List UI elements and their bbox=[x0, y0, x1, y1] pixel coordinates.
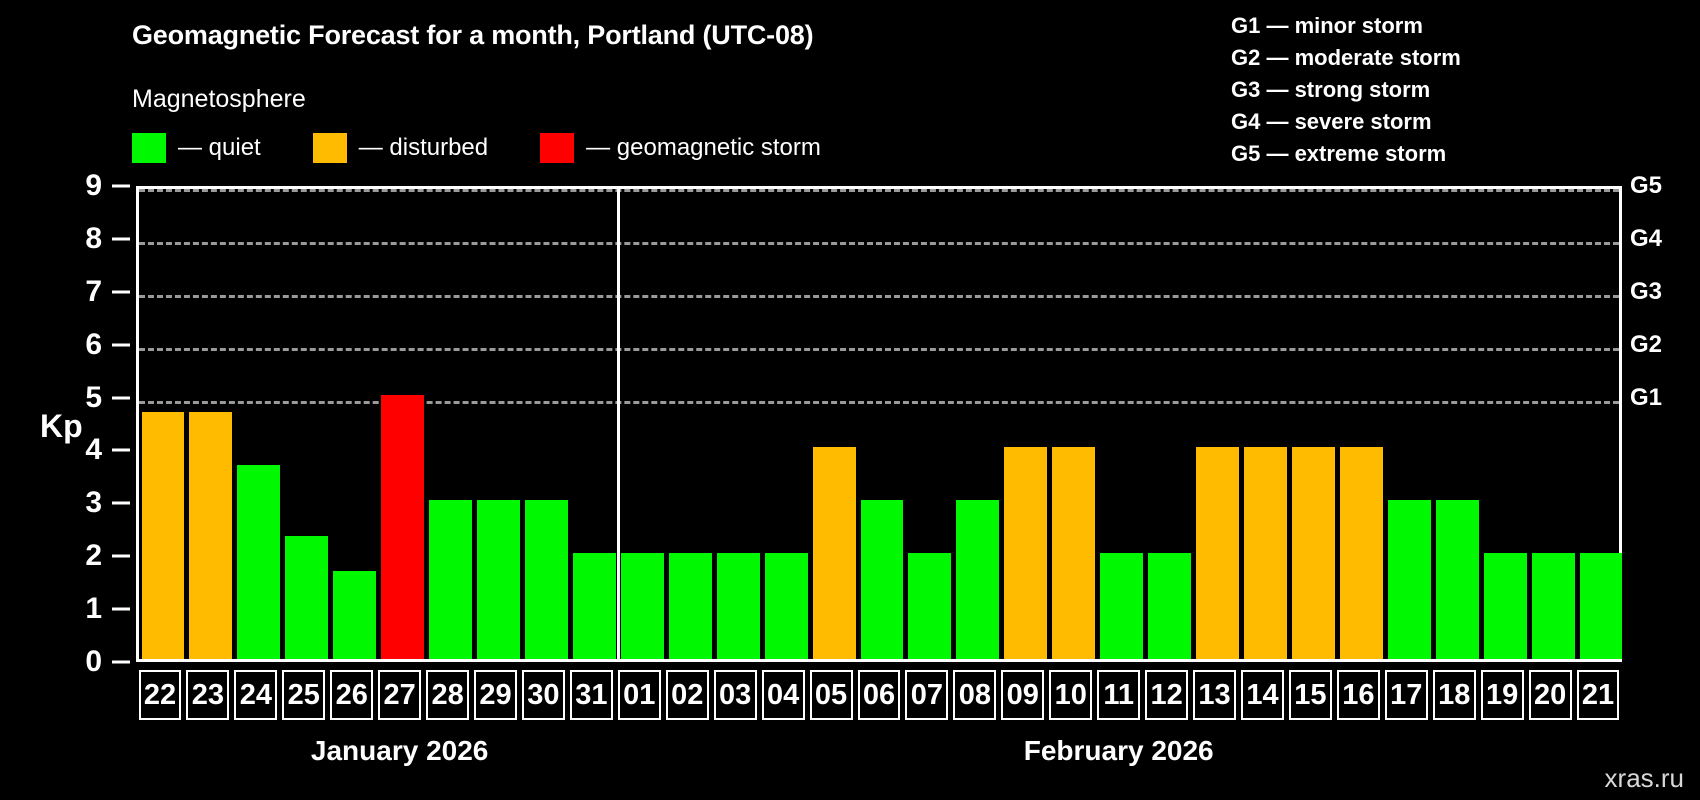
y-tick-label-4: 4 bbox=[85, 433, 102, 467]
y-tick-mark-9 bbox=[112, 185, 130, 188]
y-tick-mark-1 bbox=[112, 608, 130, 611]
date-cell-04[interactable]: 04 bbox=[762, 670, 805, 720]
page-title: Geomagnetic Forecast for a month, Portla… bbox=[132, 20, 813, 51]
bar-14[interactable] bbox=[1244, 447, 1287, 659]
g-scale-row-5: G5 — extreme storm bbox=[1231, 138, 1461, 170]
legend-label: — quiet bbox=[178, 134, 261, 162]
date-cell-12[interactable]: 12 bbox=[1145, 670, 1188, 720]
g-scale-row-4: G4 — severe storm bbox=[1231, 106, 1461, 138]
date-cell-16[interactable]: 16 bbox=[1337, 670, 1380, 720]
bar-series bbox=[139, 189, 1619, 659]
date-cell-28[interactable]: 28 bbox=[426, 670, 469, 720]
bar-17[interactable] bbox=[1388, 500, 1431, 659]
date-cell-14[interactable]: 14 bbox=[1241, 670, 1284, 720]
y-tick-label-3: 3 bbox=[85, 486, 102, 520]
date-cell-30[interactable]: 30 bbox=[522, 670, 565, 720]
legend-item-2: — geomagnetic storm bbox=[540, 133, 821, 163]
y-tick-mark-6 bbox=[112, 343, 130, 346]
bar-27[interactable] bbox=[381, 395, 424, 659]
bar-10[interactable] bbox=[1052, 447, 1095, 659]
bar-31[interactable] bbox=[573, 553, 616, 659]
bar-15[interactable] bbox=[1292, 447, 1335, 659]
y-tick-mark-5 bbox=[112, 396, 130, 399]
date-cell-23[interactable]: 23 bbox=[186, 670, 229, 720]
legend-item-1: — disturbed bbox=[313, 133, 488, 163]
legend-item-0: — quiet bbox=[132, 133, 261, 163]
y-tick-label-7: 7 bbox=[85, 275, 102, 309]
bar-16[interactable] bbox=[1340, 447, 1383, 659]
bar-21[interactable] bbox=[1580, 553, 1623, 659]
y-tick-label-2: 2 bbox=[85, 539, 102, 573]
bar-22[interactable] bbox=[142, 412, 185, 659]
bar-28[interactable] bbox=[429, 500, 472, 659]
bar-29[interactable] bbox=[477, 500, 520, 659]
date-cell-26[interactable]: 26 bbox=[330, 670, 373, 720]
bar-04[interactable] bbox=[765, 553, 808, 659]
bar-09[interactable] bbox=[1004, 447, 1047, 659]
g-axis-label-G3: G3 bbox=[1630, 278, 1662, 306]
bar-06[interactable] bbox=[861, 500, 904, 659]
y-tick-label-6: 6 bbox=[85, 328, 102, 362]
bar-23[interactable] bbox=[189, 412, 232, 659]
y-tick-label-1: 1 bbox=[85, 592, 102, 626]
bar-05[interactable] bbox=[813, 447, 856, 659]
date-cell-17[interactable]: 17 bbox=[1385, 670, 1428, 720]
date-cell-09[interactable]: 09 bbox=[1001, 670, 1044, 720]
bar-25[interactable] bbox=[285, 536, 328, 659]
date-cell-15[interactable]: 15 bbox=[1289, 670, 1332, 720]
bar-24[interactable] bbox=[237, 465, 280, 659]
y-tick-mark-2 bbox=[112, 555, 130, 558]
y-tick-label-9: 9 bbox=[85, 169, 102, 203]
y-tick-mark-4 bbox=[112, 449, 130, 452]
bar-07[interactable] bbox=[908, 553, 951, 659]
geomagnetic-forecast-chart: Geomagnetic Forecast for a month, Portla… bbox=[0, 0, 1700, 800]
month-caption-1: February 2026 bbox=[1024, 735, 1214, 767]
right-g-axis: G1G2G3G4G5 bbox=[1630, 186, 1700, 662]
plot-area bbox=[136, 186, 1622, 662]
y-tick-mark-3 bbox=[112, 502, 130, 505]
date-cell-10[interactable]: 10 bbox=[1049, 670, 1092, 720]
date-cell-13[interactable]: 13 bbox=[1193, 670, 1236, 720]
date-cell-11[interactable]: 11 bbox=[1097, 670, 1140, 720]
y-tick-label-5: 5 bbox=[85, 381, 102, 415]
y-tick-label-8: 8 bbox=[85, 222, 102, 256]
y-tick-mark-7 bbox=[112, 290, 130, 293]
bar-26[interactable] bbox=[333, 571, 376, 659]
date-cell-08[interactable]: 08 bbox=[953, 670, 996, 720]
watermark: xras.ru bbox=[1605, 763, 1684, 794]
date-cell-25[interactable]: 25 bbox=[282, 670, 325, 720]
legend-swatch-icon bbox=[313, 133, 347, 163]
bar-03[interactable] bbox=[717, 553, 760, 659]
bar-12[interactable] bbox=[1148, 553, 1191, 659]
bar-30[interactable] bbox=[525, 500, 568, 659]
bar-11[interactable] bbox=[1100, 553, 1143, 659]
date-cell-27[interactable]: 27 bbox=[378, 670, 421, 720]
month-caption-0: January 2026 bbox=[311, 735, 488, 767]
date-cell-05[interactable]: 05 bbox=[810, 670, 853, 720]
date-cell-19[interactable]: 19 bbox=[1481, 670, 1524, 720]
date-cell-06[interactable]: 06 bbox=[858, 670, 901, 720]
bar-08[interactable] bbox=[956, 500, 999, 659]
date-cell-18[interactable]: 18 bbox=[1433, 670, 1476, 720]
date-cell-29[interactable]: 29 bbox=[474, 670, 517, 720]
g-scale-row-3: G3 — strong storm bbox=[1231, 74, 1461, 106]
y-tick-label-0: 0 bbox=[85, 645, 102, 679]
date-cell-22[interactable]: 22 bbox=[139, 670, 182, 720]
g-scale-legend: G1 — minor stormG2 — moderate stormG3 — … bbox=[1231, 10, 1461, 170]
legend-swatch-icon bbox=[540, 133, 574, 163]
date-cell-24[interactable]: 24 bbox=[234, 670, 277, 720]
legend-swatch-icon bbox=[132, 133, 166, 163]
g-axis-label-G1: G1 bbox=[1630, 384, 1662, 412]
g-scale-row-1: G1 — minor storm bbox=[1231, 10, 1461, 42]
y-tick-mark-8 bbox=[112, 237, 130, 240]
legend-label: — disturbed bbox=[359, 134, 488, 162]
legend-label: — geomagnetic storm bbox=[586, 134, 821, 162]
date-cell-02[interactable]: 02 bbox=[666, 670, 709, 720]
date-cell-21[interactable]: 21 bbox=[1577, 670, 1620, 720]
date-cell-03[interactable]: 03 bbox=[714, 670, 757, 720]
bar-19[interactable] bbox=[1484, 553, 1527, 659]
g-axis-label-G5: G5 bbox=[1630, 172, 1662, 200]
date-cell-31[interactable]: 31 bbox=[570, 670, 613, 720]
y-axis-title: Kp bbox=[40, 408, 83, 445]
month-divider bbox=[617, 189, 620, 659]
g-axis-label-G4: G4 bbox=[1630, 225, 1662, 253]
date-cell-01[interactable]: 01 bbox=[618, 670, 661, 720]
legend-heading: Magnetosphere bbox=[132, 85, 306, 114]
date-cell-07[interactable]: 07 bbox=[905, 670, 948, 720]
legend: — quiet— disturbed— geomagnetic storm bbox=[132, 132, 867, 164]
bar-18[interactable] bbox=[1436, 500, 1479, 659]
date-axis: 2223242526272829303101020304050607080910… bbox=[136, 670, 1622, 720]
g-scale-row-2: G2 — moderate storm bbox=[1231, 42, 1461, 74]
g-axis-label-G2: G2 bbox=[1630, 331, 1662, 359]
bar-20[interactable] bbox=[1532, 553, 1575, 659]
bar-01[interactable] bbox=[621, 553, 664, 659]
bar-13[interactable] bbox=[1196, 447, 1239, 659]
y-tick-mark-0 bbox=[112, 661, 130, 664]
bar-02[interactable] bbox=[669, 553, 712, 659]
date-cell-20[interactable]: 20 bbox=[1529, 670, 1572, 720]
